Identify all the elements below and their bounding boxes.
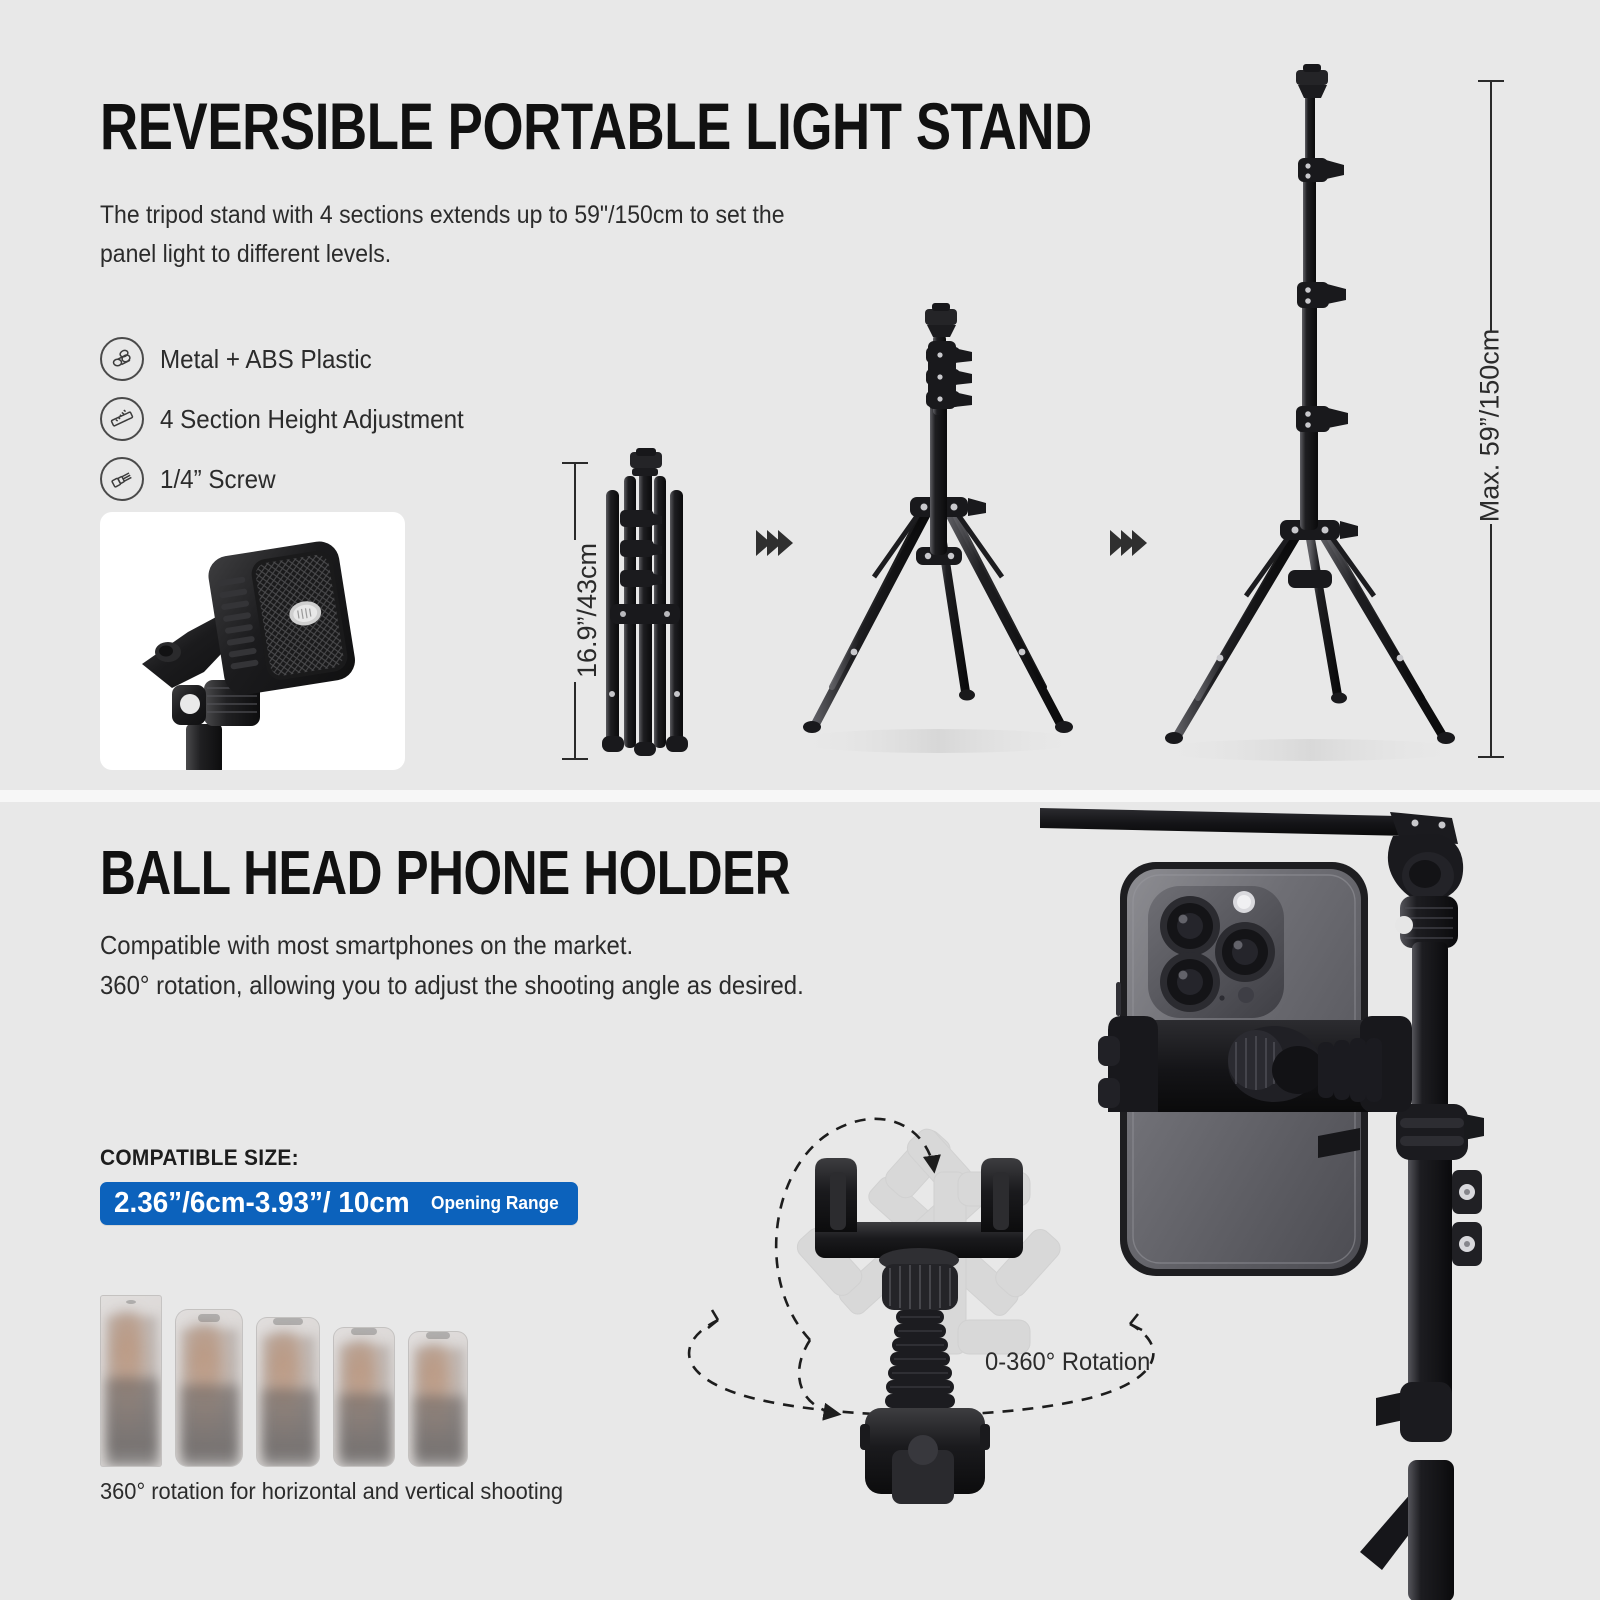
infographic-page: REVERSIBLE PORTABLE LIGHT STAND The trip… [0, 0, 1600, 1600]
phone-thumb-1 [100, 1295, 162, 1467]
section1-description: The tripod stand with 4 sections extends… [100, 196, 928, 274]
section-light-stand: REVERSIBLE PORTABLE LIGHT STAND The trip… [0, 0, 1600, 790]
feature-label: 1/4” Screw [160, 464, 276, 495]
phone-on-stand-illustration [1060, 792, 1600, 1600]
tripod-head-inset-photo [100, 512, 405, 770]
tripod-extended-illustration [1140, 62, 1470, 762]
badge-size-value: 2.36”/6cm-3.93”/ 10cm [114, 1187, 410, 1220]
phone-thumb-4 [333, 1327, 395, 1467]
feature-label: 4 Section Height Adjustment [160, 404, 464, 435]
dimension-label-max: Max. 59”/150cm [1474, 329, 1505, 523]
feature-item-screw: 1/4” Screw [100, 450, 487, 508]
chevron-arrow-2 [1110, 530, 1143, 556]
phones-caption: 360° rotation for horizontal and vertica… [100, 1478, 563, 1505]
section1-title: REVERSIBLE PORTABLE LIGHT STAND [100, 88, 1092, 164]
tubes-icon [100, 337, 144, 381]
phone-thumb-5 [408, 1331, 468, 1467]
phone-size-thumbnails [100, 1272, 560, 1467]
tripod-opened-illustration [770, 295, 1100, 765]
section2-description: Compatible with most smartphones on the … [100, 925, 974, 1006]
feature-item-sections: 4 Section Height Adjustment [100, 390, 487, 448]
phone-thumb-2 [175, 1309, 243, 1467]
opening-range-badge: 2.36”/6cm-3.93”/ 10cm Opening Range [100, 1182, 578, 1225]
feature-label: Metal + ABS Plastic [160, 344, 372, 375]
badge-size-suffix: Opening Range [431, 1193, 559, 1214]
tripod-folded-illustration [590, 448, 700, 768]
section2-title: BALL HEAD PHONE HOLDER [100, 838, 790, 909]
phone-thumb-3 [256, 1317, 320, 1467]
compatible-size-label: COMPATIBLE SIZE: [100, 1145, 299, 1171]
dimension-label-folded: 16.9”/43cm [572, 543, 603, 678]
screw-icon [100, 457, 144, 501]
ruler-icon [100, 397, 144, 441]
feature-list: Metal + ABS Plastic 4 Section Height Adj… [100, 330, 487, 510]
section-ball-head-phone-holder: BALL HEAD PHONE HOLDER Compatible with m… [0, 802, 1600, 1600]
feature-item-material: Metal + ABS Plastic [100, 330, 487, 388]
